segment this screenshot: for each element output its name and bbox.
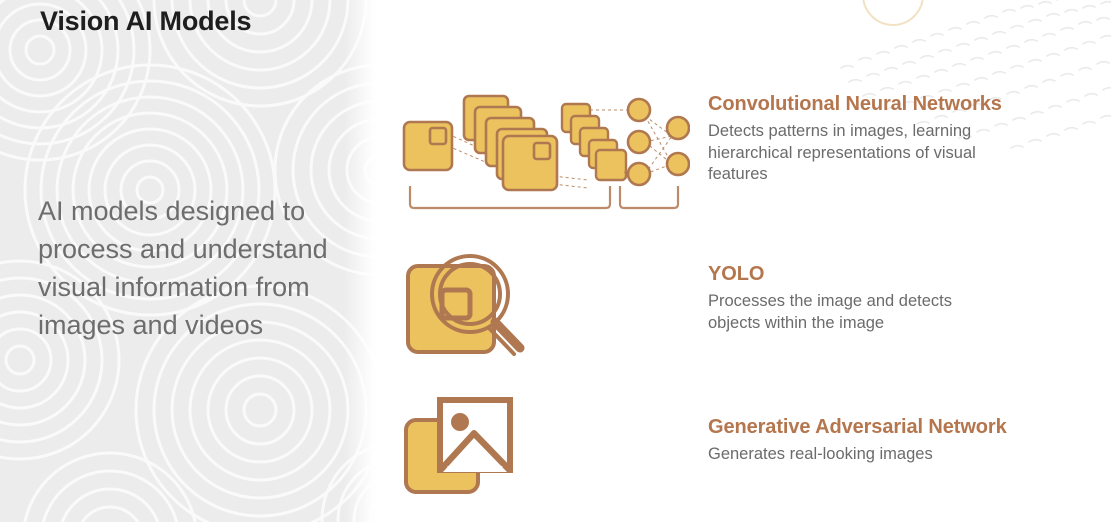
arc-decor-icon	[862, 0, 924, 26]
panel-fade-edge	[344, 0, 378, 522]
yolo-text-block: YOLO Processes the image and detects obj…	[708, 263, 1008, 334]
cnn-description: Detects patterns in images, learning hie…	[708, 121, 1008, 186]
cnn-title: Convolutional Neural Networks	[708, 93, 1008, 116]
left-panel: Vision AI Models AI models designed to p…	[0, 0, 378, 522]
gan-description: Generates real-looking images	[708, 444, 1038, 466]
gan-text-block: Generative Adversarial Network Generates…	[708, 416, 1038, 466]
gan-title: Generative Adversarial Network	[708, 416, 1038, 439]
slide-subtitle: AI models designed to process and unders…	[38, 192, 348, 344]
page-title: Vision AI Models	[40, 6, 251, 37]
image-magnifier-icon	[400, 246, 530, 356]
cnn-layers-diagram-icon	[400, 80, 690, 212]
slide-canvas: Vision AI Models AI models designed to p…	[0, 0, 1111, 522]
yolo-description: Processes the image and detects objects …	[708, 291, 1008, 334]
yolo-title: YOLO	[708, 263, 1008, 286]
cnn-text-block: Convolutional Neural Networks Detects pa…	[708, 93, 1008, 186]
photo-stack-icon	[400, 392, 520, 502]
